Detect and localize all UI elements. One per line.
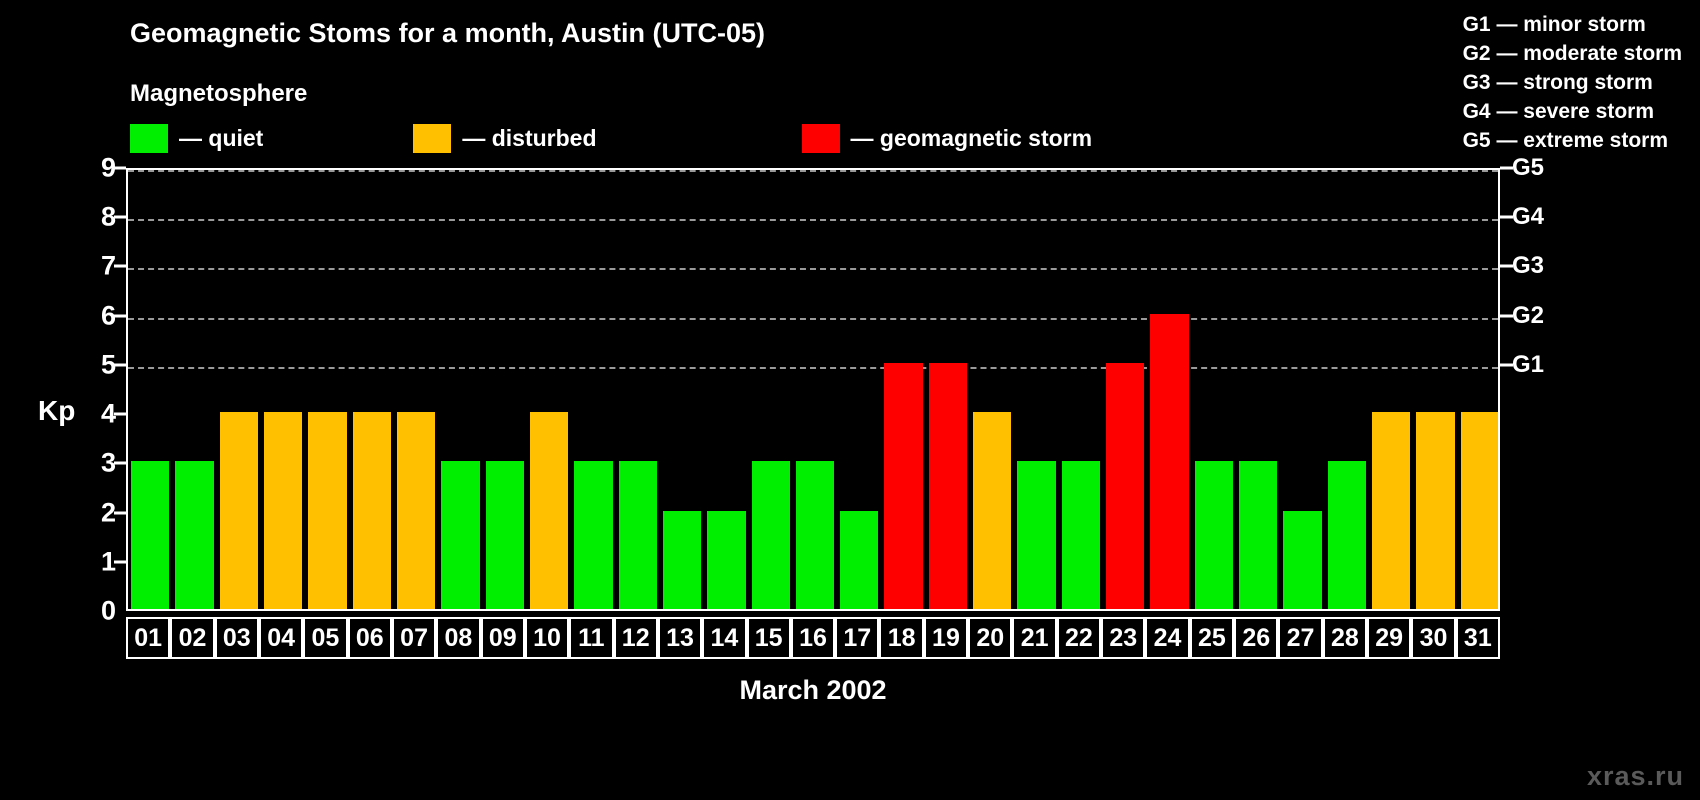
day-label-16: 16 xyxy=(791,617,835,659)
g-tick-label-g2: G2 xyxy=(1512,302,1572,330)
y-tick-label-1: 1 xyxy=(76,546,116,577)
chart-page: Geomagnetic Stoms for a month, Austin (U… xyxy=(0,0,1700,800)
bar-day-26 xyxy=(1239,461,1277,609)
bar-day-13 xyxy=(663,511,701,609)
day-label-11: 11 xyxy=(569,617,613,659)
legend-item-disturbed: — disturbed xyxy=(413,124,596,153)
day-label-07: 07 xyxy=(392,617,436,659)
legend-label-storm: — geomagnetic storm xyxy=(851,125,1093,152)
y-tick-label-8: 8 xyxy=(76,202,116,233)
bar-day-11 xyxy=(574,461,612,609)
g-tick-label-g5: G5 xyxy=(1512,154,1572,182)
bar-day-15 xyxy=(752,461,790,609)
y-tick-label-9: 9 xyxy=(76,153,116,184)
bar-day-20 xyxy=(973,412,1011,609)
bar-day-24 xyxy=(1150,314,1188,609)
bar-day-01 xyxy=(131,461,169,609)
bar-day-16 xyxy=(796,461,834,609)
g-tick-label-g1: G1 xyxy=(1512,351,1572,379)
bar-day-31 xyxy=(1461,412,1498,609)
x-axis-day-labels: 0102030405060708091011121314151617181920… xyxy=(126,617,1500,659)
legend-label-quiet: — quiet xyxy=(179,125,263,152)
bar-day-17 xyxy=(840,511,878,609)
y-tick-label-0: 0 xyxy=(76,596,116,627)
legend-swatch-quiet xyxy=(130,124,168,153)
g-tick-label-g3: G3 xyxy=(1512,252,1572,280)
page-title: Geomagnetic Stoms for a month, Austin (U… xyxy=(130,18,765,49)
bar-day-03 xyxy=(220,412,258,609)
y-tick-mark-8 xyxy=(114,216,126,219)
day-label-17: 17 xyxy=(835,617,879,659)
bar-day-19 xyxy=(929,363,967,609)
g-tick-label-g4: G4 xyxy=(1512,203,1572,231)
y-tick-label-2: 2 xyxy=(76,497,116,528)
y-tick-label-5: 5 xyxy=(76,349,116,380)
bar-day-28 xyxy=(1328,461,1366,609)
day-label-19: 19 xyxy=(924,617,968,659)
gridline-kp-9 xyxy=(128,170,1498,172)
legend-heading: Magnetosphere xyxy=(130,80,307,108)
watermark: xras.ru xyxy=(1587,761,1684,792)
gridline-kp-7 xyxy=(128,268,1498,270)
day-label-12: 12 xyxy=(614,617,658,659)
bar-day-22 xyxy=(1062,461,1100,609)
legend-item-storm: — geomagnetic storm xyxy=(802,124,1093,153)
day-label-06: 06 xyxy=(348,617,392,659)
bar-day-05 xyxy=(308,412,346,609)
gscale-line-g1: G1 — minor storm xyxy=(1463,10,1682,39)
day-label-14: 14 xyxy=(702,617,746,659)
gscale-legend: G1 — minor stormG2 — moderate stormG3 — … xyxy=(1463,10,1682,155)
g-tick-mark-g5 xyxy=(1500,167,1513,170)
y-tick-label-6: 6 xyxy=(76,300,116,331)
y-tick-label-7: 7 xyxy=(76,251,116,282)
day-label-22: 22 xyxy=(1057,617,1101,659)
day-label-03: 03 xyxy=(215,617,259,659)
day-label-04: 04 xyxy=(259,617,303,659)
legend-swatch-disturbed xyxy=(413,124,451,153)
day-label-23: 23 xyxy=(1101,617,1145,659)
bar-day-06 xyxy=(353,412,391,609)
bar-day-27 xyxy=(1283,511,1321,609)
x-axis-caption: March 2002 xyxy=(126,675,1500,706)
day-label-20: 20 xyxy=(968,617,1012,659)
day-label-13: 13 xyxy=(658,617,702,659)
y-tick-mark-1 xyxy=(114,560,126,563)
bar-day-18 xyxy=(884,363,922,609)
bar-day-02 xyxy=(175,461,213,609)
plot-inner xyxy=(128,170,1498,609)
y-axis-label: Kp xyxy=(38,395,75,427)
bar-day-08 xyxy=(441,461,479,609)
day-label-26: 26 xyxy=(1234,617,1278,659)
gscale-line-g3: G3 — strong storm xyxy=(1463,68,1682,97)
day-label-18: 18 xyxy=(879,617,923,659)
bar-day-14 xyxy=(707,511,745,609)
gridline-kp-8 xyxy=(128,219,1498,221)
y-tick-mark-2 xyxy=(114,511,126,514)
bar-day-29 xyxy=(1372,412,1410,609)
day-label-15: 15 xyxy=(747,617,791,659)
day-label-08: 08 xyxy=(436,617,480,659)
day-label-27: 27 xyxy=(1278,617,1322,659)
g-tick-mark-g2 xyxy=(1500,314,1513,317)
y-tick-label-4: 4 xyxy=(76,399,116,430)
day-label-05: 05 xyxy=(303,617,347,659)
g-tick-mark-g3 xyxy=(1500,265,1513,268)
day-label-30: 30 xyxy=(1411,617,1455,659)
gscale-line-g5: G5 — extreme storm xyxy=(1463,126,1682,155)
gridline-kp-6 xyxy=(128,318,1498,320)
legend-label-disturbed: — disturbed xyxy=(462,125,596,152)
day-label-24: 24 xyxy=(1145,617,1189,659)
bar-day-23 xyxy=(1106,363,1144,609)
gridline-kp-5 xyxy=(128,367,1498,369)
g-tick-mark-g4 xyxy=(1500,216,1513,219)
day-label-28: 28 xyxy=(1323,617,1367,659)
y-tick-mark-9 xyxy=(114,167,126,170)
day-label-01: 01 xyxy=(126,617,170,659)
bar-day-09 xyxy=(486,461,524,609)
bar-day-04 xyxy=(264,412,302,609)
day-label-21: 21 xyxy=(1012,617,1056,659)
legend-item-quiet: — quiet xyxy=(130,124,263,153)
bar-day-21 xyxy=(1017,461,1055,609)
bar-day-07 xyxy=(397,412,435,609)
legend-swatch-storm xyxy=(802,124,840,153)
y-tick-mark-3 xyxy=(114,462,126,465)
day-label-29: 29 xyxy=(1367,617,1411,659)
gscale-line-g2: G2 — moderate storm xyxy=(1463,39,1682,68)
y-tick-mark-6 xyxy=(114,314,126,317)
y-tick-mark-4 xyxy=(114,413,126,416)
bar-day-10 xyxy=(530,412,568,609)
y-tick-mark-5 xyxy=(114,363,126,366)
day-label-31: 31 xyxy=(1456,617,1500,659)
bar-day-25 xyxy=(1195,461,1233,609)
day-label-09: 09 xyxy=(481,617,525,659)
day-label-25: 25 xyxy=(1190,617,1234,659)
day-label-10: 10 xyxy=(525,617,569,659)
bar-day-12 xyxy=(619,461,657,609)
gscale-line-g4: G4 — severe storm xyxy=(1463,97,1682,126)
plot-area xyxy=(126,168,1500,611)
g-tick-mark-g1 xyxy=(1500,363,1513,366)
y-tick-label-3: 3 xyxy=(76,448,116,479)
bar-day-30 xyxy=(1416,412,1454,609)
y-tick-mark-7 xyxy=(114,265,126,268)
legend: — quiet— disturbed— geomagnetic storm xyxy=(130,122,1092,154)
day-label-02: 02 xyxy=(170,617,214,659)
